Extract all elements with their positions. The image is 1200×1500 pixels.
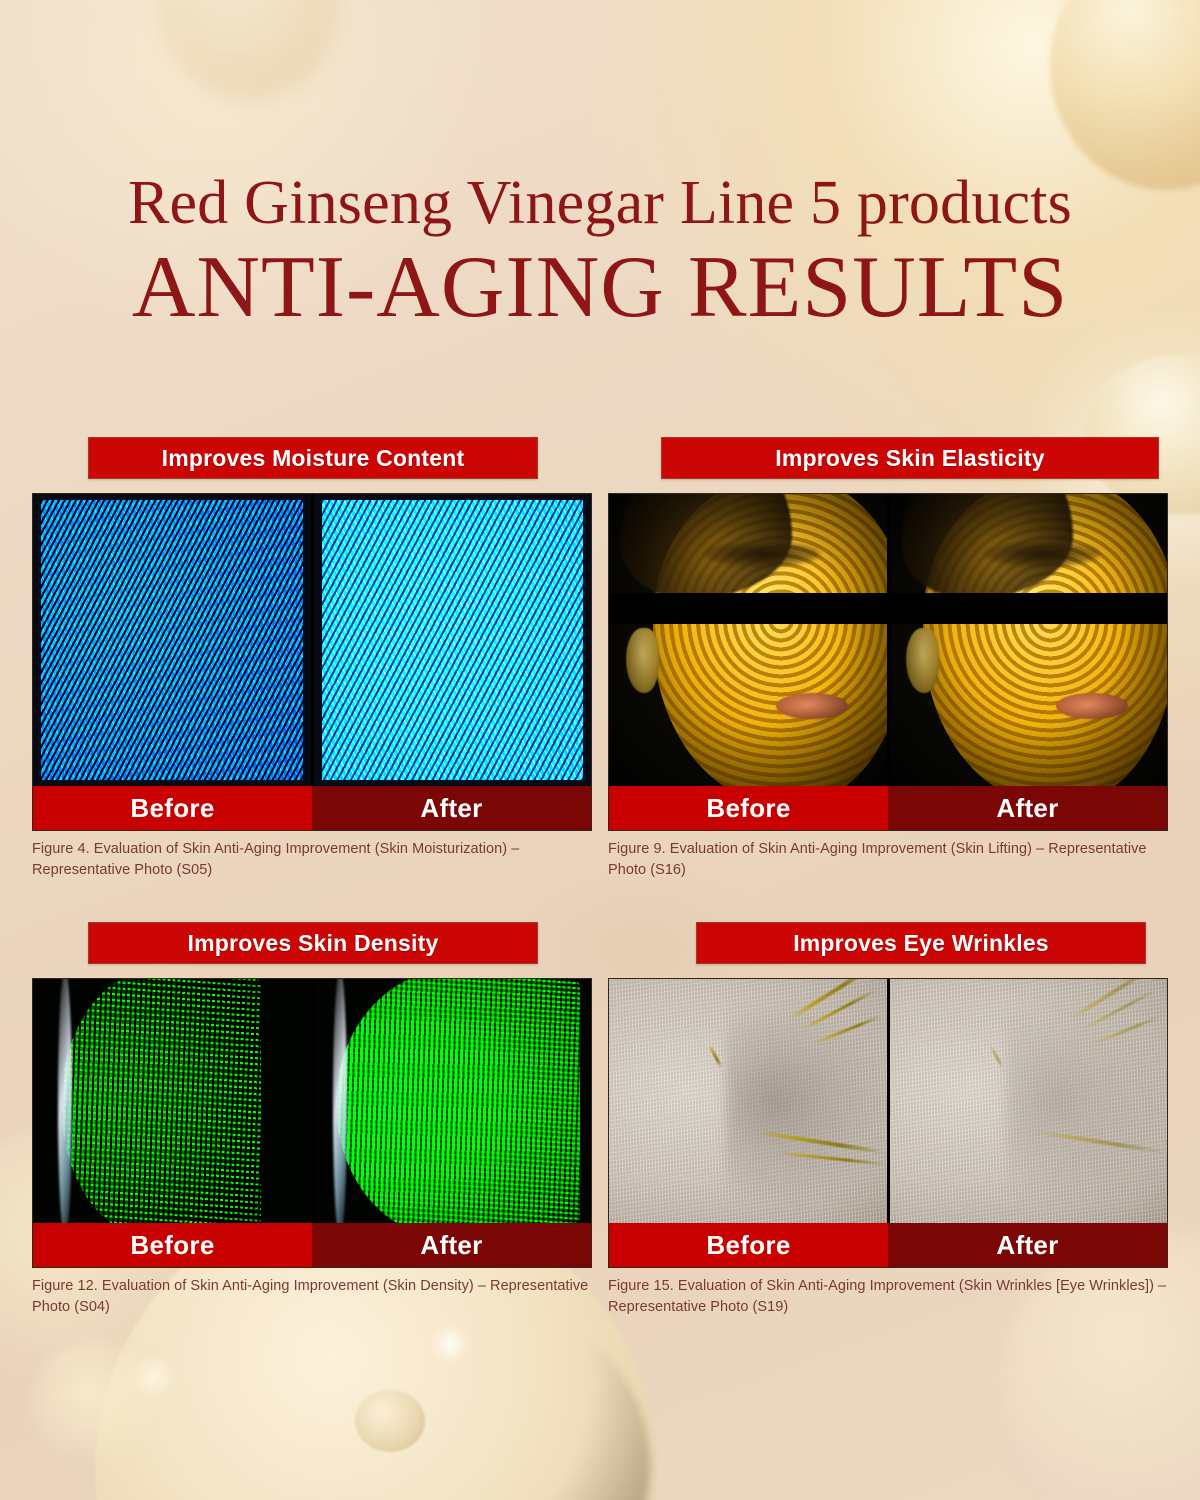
- card-banner-label: Improves Skin Elasticity: [775, 445, 1044, 472]
- card-banner-label: Improves Eye Wrinkles: [793, 930, 1049, 957]
- card-caption-moisture: Figure 4. Evaluation of Skin Anti-Aging …: [32, 839, 592, 881]
- dermis-echo-band: [336, 979, 580, 1223]
- results-grid: Improves Moisture Content Before After F…: [0, 0, 1200, 1500]
- before-after-photo: [33, 494, 591, 786]
- photo-before-density: [33, 979, 311, 1223]
- before-after-bar: Before After: [33, 1223, 591, 1267]
- after-label: After: [312, 1223, 591, 1267]
- poster-page: Red Ginseng Vinegar Line 5 products ANTI…: [0, 0, 1200, 1500]
- before-label: Before: [33, 1223, 312, 1267]
- photo-after-moisture: [314, 494, 592, 786]
- card-caption-density: Figure 12. Evaluation of Skin Anti-Aging…: [32, 1276, 592, 1318]
- epidermis-entry-echo: [333, 979, 347, 1223]
- photo-after-density: [314, 979, 592, 1223]
- after-label: After: [888, 1223, 1167, 1267]
- card-banner-label: Improves Skin Density: [188, 930, 439, 957]
- after-label: After: [312, 786, 591, 830]
- card-banner-moisture: Improves Moisture Content: [88, 437, 538, 479]
- photo-before-eye-wrinkles: [609, 979, 887, 1223]
- photo-after-eye-wrinkles: [890, 979, 1168, 1223]
- result-card-elasticity: Improves Skin Elasticity: [608, 437, 1168, 881]
- card-caption-eye-wrinkles: Figure 15. Evaluation of Skin Anti-Aging…: [608, 1276, 1168, 1318]
- card-photo-moisture: Before After: [32, 493, 592, 831]
- card-banner-eye-wrinkles: Improves Eye Wrinkles: [696, 922, 1146, 964]
- result-card-moisture: Improves Moisture Content Before After F…: [32, 437, 592, 881]
- photo-after-elasticity: [890, 494, 1168, 786]
- result-card-density: Improves Skin Density Before Aft: [32, 922, 592, 1318]
- result-card-eye-wrinkles: Improves Eye Wrinkles: [608, 922, 1168, 1318]
- face-vignette: [609, 494, 887, 786]
- card-photo-elasticity: Before After: [608, 493, 1168, 831]
- before-label: Before: [33, 786, 312, 830]
- card-photo-eye-wrinkles: Before After: [608, 978, 1168, 1268]
- before-after-photo: [609, 979, 1167, 1223]
- before-after-photo: [609, 494, 1167, 786]
- before-after-bar: Before After: [609, 786, 1167, 830]
- epidermis-entry-echo: [58, 979, 72, 1223]
- face-vignette: [890, 494, 1168, 786]
- card-caption-elasticity: Figure 9. Evaluation of Skin Anti-Aging …: [608, 839, 1168, 881]
- after-label: After: [888, 786, 1167, 830]
- card-banner-label: Improves Moisture Content: [162, 445, 465, 472]
- card-banner-elasticity: Improves Skin Elasticity: [661, 437, 1159, 479]
- card-photo-density: Before After: [32, 978, 592, 1268]
- photo-before-moisture: [33, 494, 311, 786]
- dermis-echo-band: [61, 979, 261, 1223]
- before-after-photo: [33, 979, 591, 1223]
- photo-before-elasticity: [609, 494, 887, 786]
- before-after-bar: Before After: [33, 786, 591, 830]
- before-after-bar: Before After: [609, 1223, 1167, 1267]
- skin-replica-shadow: [1006, 999, 1167, 1204]
- skin-replica-shadow: [726, 999, 887, 1204]
- card-banner-density: Improves Skin Density: [88, 922, 538, 964]
- before-label: Before: [609, 1223, 888, 1267]
- before-label: Before: [609, 786, 888, 830]
